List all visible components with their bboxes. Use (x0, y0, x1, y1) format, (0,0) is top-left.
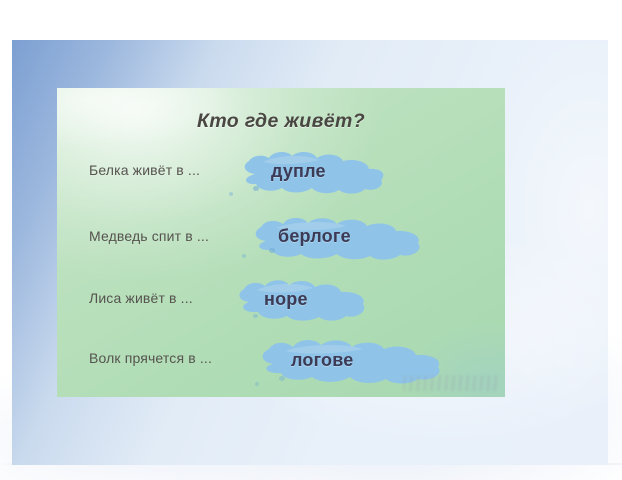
droplet-speck-icon (229, 192, 233, 196)
row-answer: дупле (271, 161, 326, 182)
row-prompt: Волк прячется в ... (89, 350, 212, 366)
quiz-row: Белка живёт в ... дупле (57, 148, 505, 196)
row-answer: берлоге (278, 226, 351, 247)
screenshot-stage: Кто где живёт? Белка живёт в ... дупле М… (0, 0, 622, 480)
page-title: Кто где живёт? (57, 110, 505, 133)
content-panel: Кто где живёт? Белка живёт в ... дупле М… (57, 88, 505, 397)
quiz-row: Медведь спит в ... берлоге (57, 214, 505, 262)
row-prompt: Белка живёт в ... (89, 162, 200, 178)
droplet-speck-icon (269, 248, 275, 253)
slide-frame: Кто где живёт? Белка живёт в ... дупле М… (12, 40, 608, 465)
droplet-speck-icon (253, 186, 259, 191)
watermark (403, 375, 499, 391)
row-prompt: Медведь спит в ... (89, 228, 209, 244)
quiz-row: Лиса живёт в ... норе (57, 276, 505, 324)
droplet-speck-icon (255, 382, 259, 386)
droplet-speck-icon (279, 376, 285, 381)
row-prompt: Лиса живёт в ... (89, 290, 193, 306)
row-answer: норе (264, 289, 308, 310)
droplet-speck-icon (253, 314, 258, 318)
row-answer: логове (291, 350, 354, 371)
droplet-speck-icon (242, 254, 246, 258)
